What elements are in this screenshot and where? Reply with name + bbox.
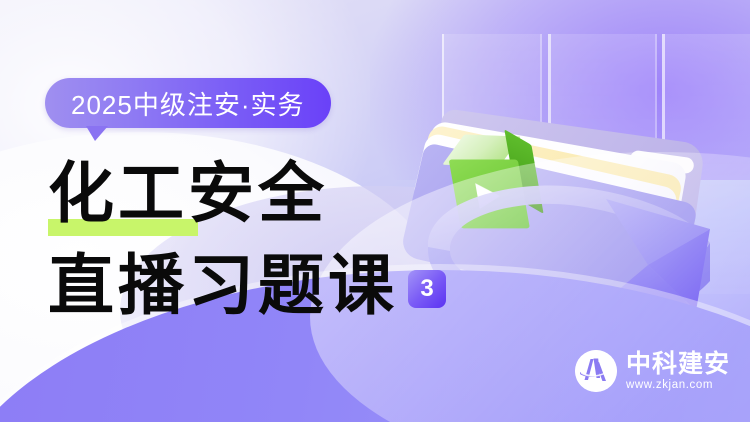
brand-name: 中科建安 (626, 351, 730, 377)
episode-badge: 3 (408, 270, 446, 308)
page-title-line2: 直播习题课 (48, 252, 398, 318)
brand-logo: 中科建安 www.zkjan.com (575, 350, 730, 392)
page-title-line2-row: 直播习题课 3 (48, 252, 446, 318)
course-tag-label: 2025中级注安·实务 (71, 85, 305, 122)
course-banner: 2025中级注安·实务 化工安全 直播习题课 3 中科建安 www.zkjan.… (0, 0, 750, 422)
course-tag-tail (86, 126, 108, 141)
course-tag-badge: 2025中级注安·实务 (45, 78, 331, 128)
brand-url: www.zkjan.com (626, 379, 730, 391)
zkjan-circle-logo-icon (575, 350, 617, 392)
page-title-line1: 化工安全 (48, 160, 328, 226)
brand-text: 中科建安 www.zkjan.com (626, 351, 730, 391)
